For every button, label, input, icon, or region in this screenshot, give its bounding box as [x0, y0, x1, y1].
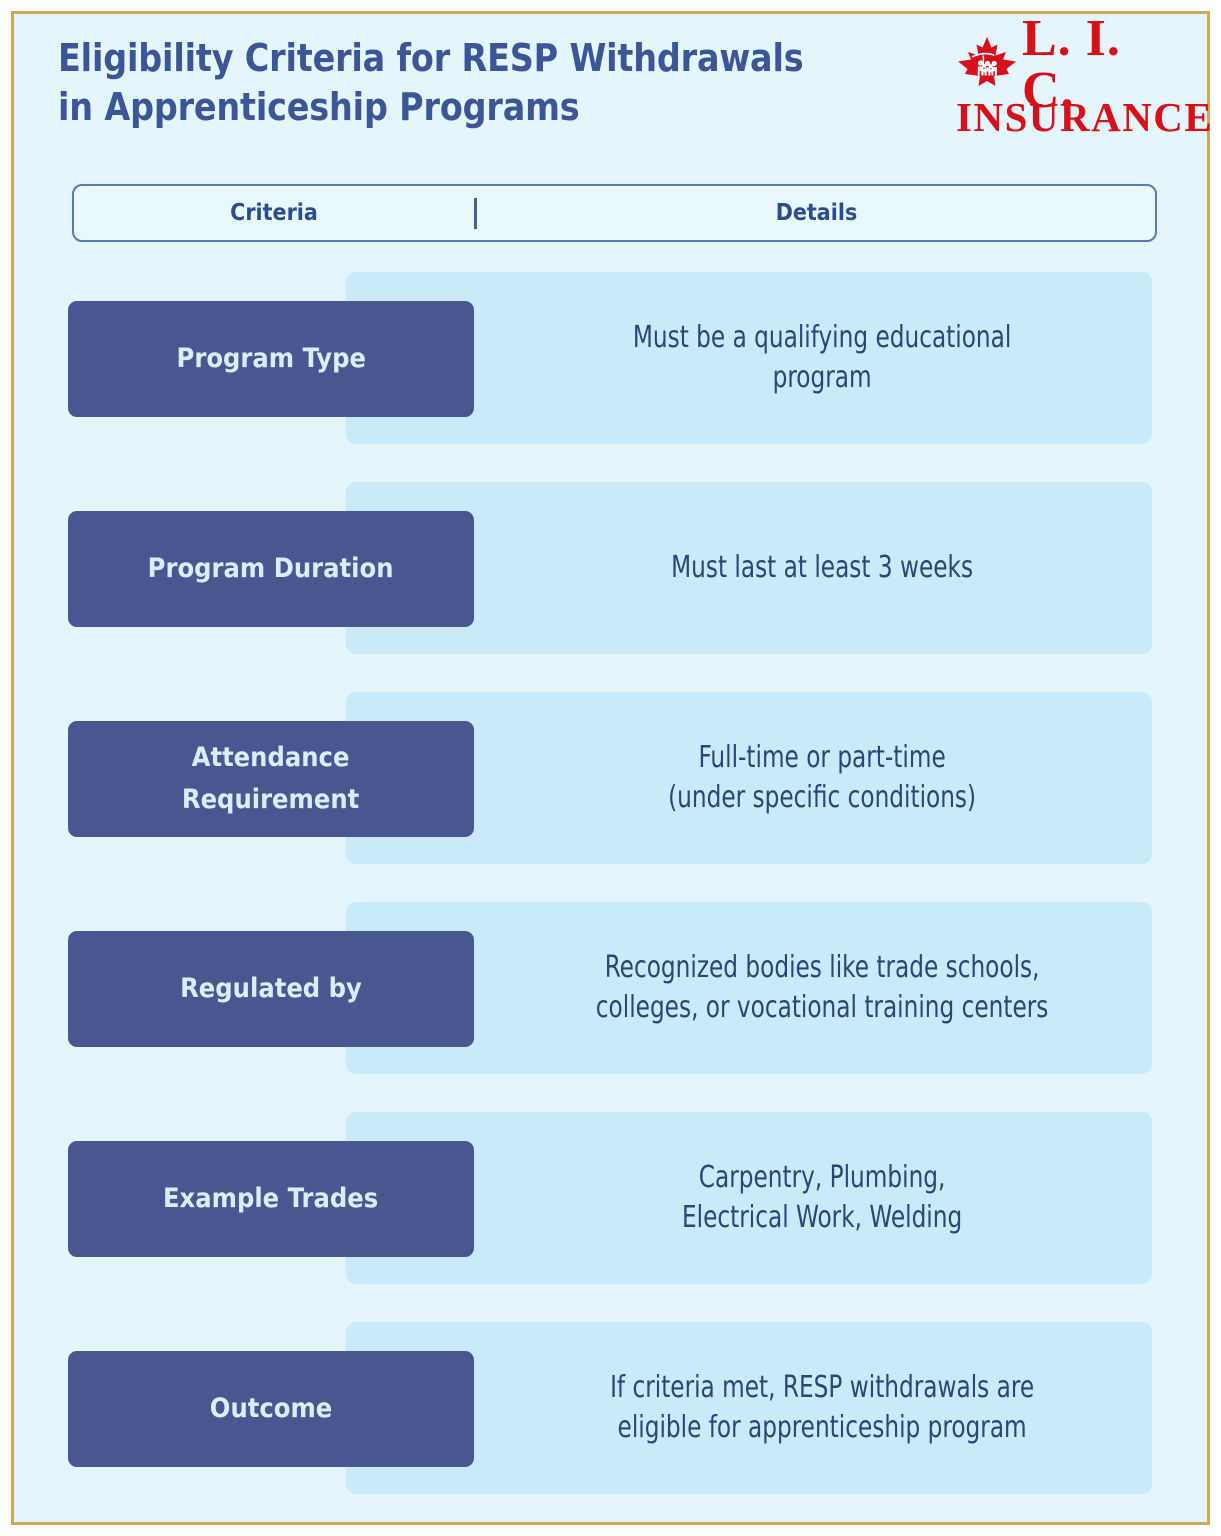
detail-text: If criteria met, RESP withdrawals are el…: [402, 1368, 1095, 1448]
detail-text: Must be a qualifying educational program: [402, 318, 1095, 398]
table-row: If criteria met, RESP withdrawals are el…: [0, 1322, 1221, 1494]
criteria-box: Example Trades: [68, 1141, 474, 1257]
table-column-header: Criteria Details: [72, 184, 1157, 242]
criteria-label: Example Trades: [163, 1178, 378, 1220]
logo-insurance-text: INSURANCE: [956, 97, 1168, 138]
criteria-label: Program Type: [176, 338, 365, 380]
logo-top-line: L. I. C.: [956, 34, 1168, 96]
table-row: Recognized bodies like trade schools, co…: [0, 902, 1221, 1074]
table-row: Carpentry, Plumbing, Electrical Work, We…: [0, 1112, 1221, 1284]
detail-text: Full-time or part-time (under specific c…: [402, 738, 1095, 818]
lic-insurance-logo: L. I. C. INSURANCE: [956, 34, 1168, 144]
column-header-divider: [474, 198, 477, 229]
criteria-box: Program Type: [68, 301, 474, 417]
detail-text: Recognized bodies like trade schools, co…: [402, 948, 1095, 1028]
criteria-box: Attendance Requirement: [68, 721, 474, 837]
table-row: Full-time or part-time (under specific c…: [0, 692, 1221, 864]
page-title: Eligibility Criteria for RESP Withdrawal…: [58, 34, 832, 132]
table-row: Must last at least 3 weeks Program Durat…: [0, 482, 1221, 654]
criteria-box: Outcome: [68, 1351, 474, 1467]
maple-leaf-icon: [956, 36, 1018, 94]
criteria-box: Regulated by: [68, 931, 474, 1047]
criteria-label: Attendance Requirement: [182, 737, 359, 821]
criteria-label: Regulated by: [180, 968, 362, 1010]
criteria-label: Program Duration: [148, 548, 394, 590]
detail-text: Carpentry, Plumbing, Electrical Work, We…: [402, 1158, 1095, 1238]
table-row: Must be a qualifying educational program…: [0, 272, 1221, 444]
criteria-box: Program Duration: [68, 511, 474, 627]
column-header-criteria: Criteria: [94, 186, 454, 240]
detail-text: Must last at least 3 weeks: [402, 548, 1095, 588]
poster-header: Eligibility Criteria for RESP Withdrawal…: [58, 34, 1168, 154]
column-header-details: Details: [513, 186, 1121, 240]
criteria-label: Outcome: [210, 1388, 332, 1430]
table-body: Must be a qualifying educational program…: [0, 272, 1221, 1532]
infographic-poster: Eligibility Criteria for RESP Withdrawal…: [0, 0, 1221, 1536]
